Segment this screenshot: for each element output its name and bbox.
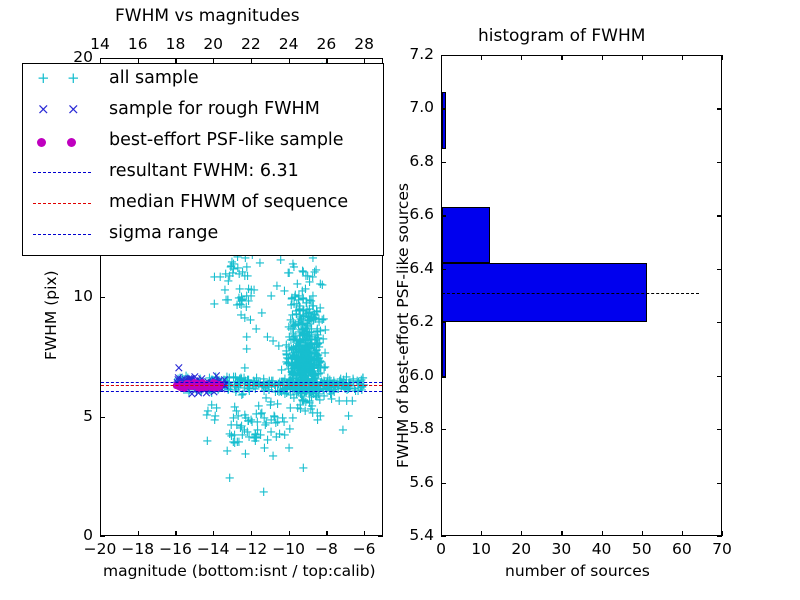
tick-label: 26 — [317, 37, 337, 53]
tick-mark — [378, 297, 383, 298]
tick-mark — [441, 215, 446, 216]
scatter-legend[interactable]: ++all sample××sample for rough FWHMbest-… — [22, 63, 384, 256]
tick-mark — [521, 531, 522, 536]
tick-label: 16 — [128, 37, 148, 53]
histogram-ylabel: FWHM of best-effort PSF-like sources — [396, 183, 412, 468]
tick-label: 6.4 — [409, 261, 434, 277]
tick-mark — [326, 531, 327, 536]
scatter-point: + — [301, 297, 312, 310]
legend-entry[interactable]: best-effort PSF-like sample — [23, 126, 383, 157]
tick-mark — [441, 108, 446, 109]
legend-label: all sample — [109, 68, 199, 88]
tick-label: −12 — [235, 542, 268, 558]
histogram-plot-area — [442, 56, 721, 535]
scatter-point: + — [209, 298, 220, 311]
scatter-point: + — [224, 472, 235, 485]
tick-label: −8 — [315, 542, 338, 558]
tick-mark — [717, 162, 722, 163]
scatter-point: + — [343, 410, 354, 423]
tick-mark — [100, 536, 105, 537]
scatter-point: + — [246, 290, 257, 303]
tick-mark — [138, 531, 139, 536]
tick-label: −16 — [159, 542, 192, 558]
tick-mark — [441, 536, 446, 537]
histogram-xlabel: number of sources — [505, 564, 650, 580]
tick-label: −20 — [84, 542, 117, 558]
tick-label: 30 — [552, 542, 572, 558]
histogram-median-line — [442, 293, 699, 294]
scatter-point: + — [234, 436, 245, 449]
tick-label: 28 — [354, 37, 374, 53]
scatter-point: + — [210, 410, 221, 423]
tick-label: 14 — [90, 37, 110, 53]
tick-label: 0 — [83, 528, 93, 544]
tick-mark — [642, 531, 643, 536]
tick-label: −10 — [272, 542, 305, 558]
scatter-point: + — [284, 442, 295, 455]
scatter-point: + — [255, 429, 266, 442]
tick-mark — [289, 531, 290, 536]
tick-mark — [441, 322, 446, 323]
figure-canvas: FWHM vs magnitudes 1416182022242628 −20−… — [0, 0, 800, 600]
histogram-bar — [442, 207, 490, 263]
tick-label: 5.8 — [409, 421, 434, 437]
tick-mark — [441, 55, 446, 56]
scatter-point: + — [251, 323, 262, 336]
scatter-point: + — [317, 279, 328, 292]
scatter-point: + — [240, 448, 251, 461]
legend-entry[interactable]: resultant FWHM: 6.31 — [23, 157, 383, 188]
tick-mark — [561, 55, 562, 60]
tick-label: 6.0 — [409, 368, 434, 384]
tick-mark — [378, 58, 383, 59]
tick-mark — [213, 531, 214, 536]
tick-mark — [717, 322, 722, 323]
scatter-point: + — [355, 382, 366, 395]
scatter-point: + — [215, 271, 226, 284]
tick-label: 40 — [592, 542, 612, 558]
annotation-line-sigma-range-lower — [101, 391, 382, 392]
tick-mark — [100, 417, 105, 418]
tick-label: −18 — [121, 542, 154, 558]
legend-label: sample for rough FWHM — [109, 99, 320, 119]
histogram-title: histogram of FWHM — [478, 28, 645, 45]
legend-label: best-effort PSF-like sample — [109, 130, 344, 150]
scatter-point: + — [312, 407, 323, 420]
scatter-point: + — [313, 355, 324, 368]
tick-label: 22 — [241, 37, 261, 53]
legend-marker-dot-icon — [23, 126, 103, 157]
tick-label: 18 — [166, 37, 186, 53]
tick-mark — [682, 531, 683, 536]
scatter-point: + — [261, 392, 272, 405]
tick-mark — [481, 55, 482, 60]
tick-mark — [378, 536, 383, 537]
tick-label: 5.4 — [409, 528, 434, 544]
tick-mark — [364, 531, 365, 536]
annotation-line-median-fhwm-of-sequence — [101, 385, 382, 386]
legend-marker-dashdot-line-icon — [23, 219, 103, 250]
scatter-point: + — [220, 284, 231, 297]
tick-mark — [717, 483, 722, 484]
legend-marker-dashed-line-icon — [23, 157, 103, 188]
tick-mark — [717, 55, 722, 56]
tick-mark — [561, 531, 562, 536]
legend-label: resultant FWHM: 6.31 — [109, 161, 299, 181]
histogram-bar — [442, 92, 446, 148]
scatter-point: + — [225, 261, 236, 274]
tick-mark — [100, 297, 105, 298]
legend-label: median FHWM of sequence — [109, 192, 348, 212]
tick-label: 5.6 — [409, 475, 434, 491]
tick-mark — [100, 58, 105, 59]
tick-mark — [717, 376, 722, 377]
tick-mark — [441, 483, 446, 484]
scatter-point: + — [241, 343, 252, 356]
tick-label: 24 — [279, 37, 299, 53]
tick-label: −6 — [353, 542, 376, 558]
tick-mark — [441, 162, 446, 163]
scatter-point: + — [239, 270, 250, 283]
scatter-point: + — [272, 398, 283, 411]
tick-label: 7.0 — [409, 100, 434, 116]
tick-mark — [717, 215, 722, 216]
scatter-point: + — [254, 257, 265, 270]
scatter-point: + — [337, 424, 348, 437]
tick-mark — [378, 417, 383, 418]
tick-mark — [251, 531, 252, 536]
scatter-xlabel: magnitude (bottom:isnt / top:calib) — [103, 564, 376, 580]
tick-mark — [642, 55, 643, 60]
tick-label: 70 — [712, 542, 732, 558]
scatter-point: + — [287, 412, 298, 425]
scatter-ylabel: FWHM (pix) — [44, 270, 60, 360]
scatter-point: + — [284, 341, 295, 354]
tick-mark — [717, 269, 722, 270]
scatter-point: + — [251, 408, 262, 421]
legend-marker-dashed-line-icon — [23, 188, 103, 219]
tick-mark — [481, 531, 482, 536]
annotation-line-sigma-range-upper — [101, 382, 382, 383]
tick-label: −14 — [197, 542, 230, 558]
tick-mark — [717, 108, 722, 109]
scatter-point: + — [299, 381, 310, 394]
scatter-point: + — [269, 411, 280, 424]
tick-label: 10 — [73, 289, 93, 305]
tick-mark — [602, 55, 603, 60]
tick-label: 60 — [672, 542, 692, 558]
tick-mark — [441, 269, 446, 270]
legend-entry[interactable]: ++all sample — [23, 64, 383, 95]
tick-label: 6.2 — [409, 314, 434, 330]
tick-label: 6.6 — [409, 207, 434, 223]
tick-mark — [722, 55, 723, 60]
legend-marker-x-icon: ×× — [23, 95, 103, 126]
tick-mark — [441, 429, 446, 430]
scatter-point: + — [256, 307, 267, 320]
tick-mark — [717, 429, 722, 430]
tick-mark — [722, 531, 723, 536]
tick-mark — [175, 531, 176, 536]
legend-entry[interactable]: median FHWM of sequence — [23, 188, 383, 219]
legend-label: sigma range — [109, 223, 218, 243]
tick-label: 0 — [436, 542, 446, 558]
legend-entry[interactable]: sigma range — [23, 219, 383, 250]
tick-label: 5 — [83, 409, 93, 425]
tick-label: 7.2 — [409, 47, 434, 63]
scatter-point: + — [202, 435, 213, 448]
scatter-point: + — [311, 337, 322, 350]
tick-label: 6.8 — [409, 154, 434, 170]
scatter-point: + — [279, 429, 290, 442]
tick-label: 20 — [511, 542, 531, 558]
scatter-point: + — [298, 462, 309, 475]
scatter-point: + — [258, 486, 269, 499]
tick-mark — [521, 55, 522, 60]
legend-marker-plus-icon: ++ — [23, 64, 103, 95]
scatter-point: + — [235, 372, 246, 385]
histogram-bar — [442, 322, 446, 378]
tick-label: 50 — [632, 542, 652, 558]
tick-mark — [602, 531, 603, 536]
tick-mark — [441, 376, 446, 377]
scatter-point: + — [285, 323, 296, 336]
tick-mark — [682, 55, 683, 60]
scatter-point: + — [309, 266, 320, 279]
tick-mark — [717, 536, 722, 537]
legend-entry[interactable]: ××sample for rough FWHM — [23, 95, 383, 126]
scatter-point: + — [259, 442, 270, 455]
tick-label: 10 — [471, 542, 491, 558]
scatter-title: FWHM vs magnitudes — [115, 8, 300, 25]
tick-label: 20 — [203, 37, 223, 53]
